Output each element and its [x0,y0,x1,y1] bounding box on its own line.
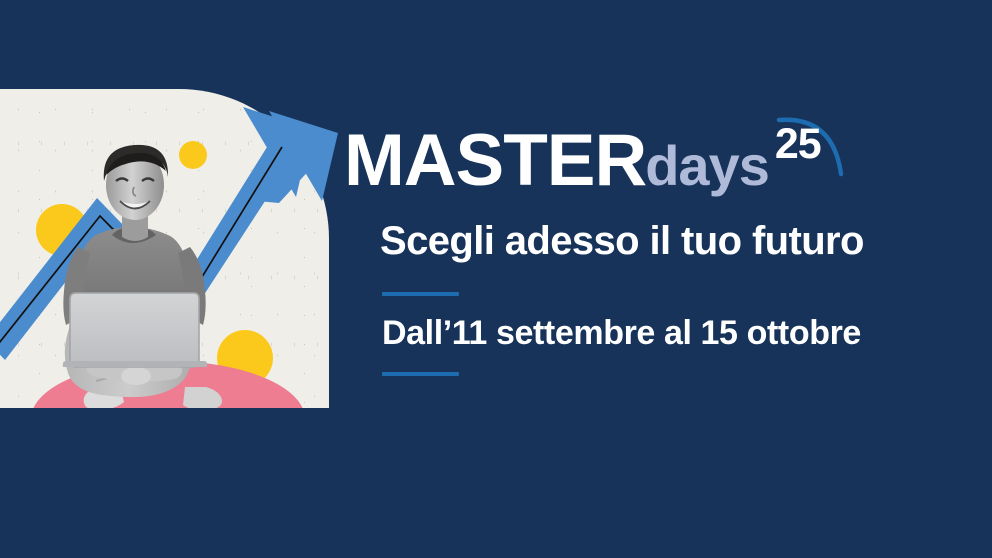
logo-year-25: 25 [775,123,821,166]
logo-word-master: MASTER [344,124,646,197]
date-block: Dall’11 settembre al 15 ottobre [382,292,861,376]
master-days-promo-banner: MASTER days 25 Scegli adesso il tuo futu… [0,0,992,558]
rule-below-date [382,372,459,376]
arrow-head-overflow [255,93,345,203]
logo-word-days: days [645,138,769,194]
master-days-logo: MASTER days 25 [344,124,771,202]
rule-above-date [382,292,459,296]
yellow-circle-small-top [179,141,207,169]
laptop-icon [70,293,199,367]
copy-block: MASTER days 25 Scegli adesso il tuo futu… [340,0,992,558]
headline-subtitle: Scegli adesso il tuo futuro [380,218,864,265]
date-range-text: Dall’11 settembre al 15 ottobre [382,316,861,350]
